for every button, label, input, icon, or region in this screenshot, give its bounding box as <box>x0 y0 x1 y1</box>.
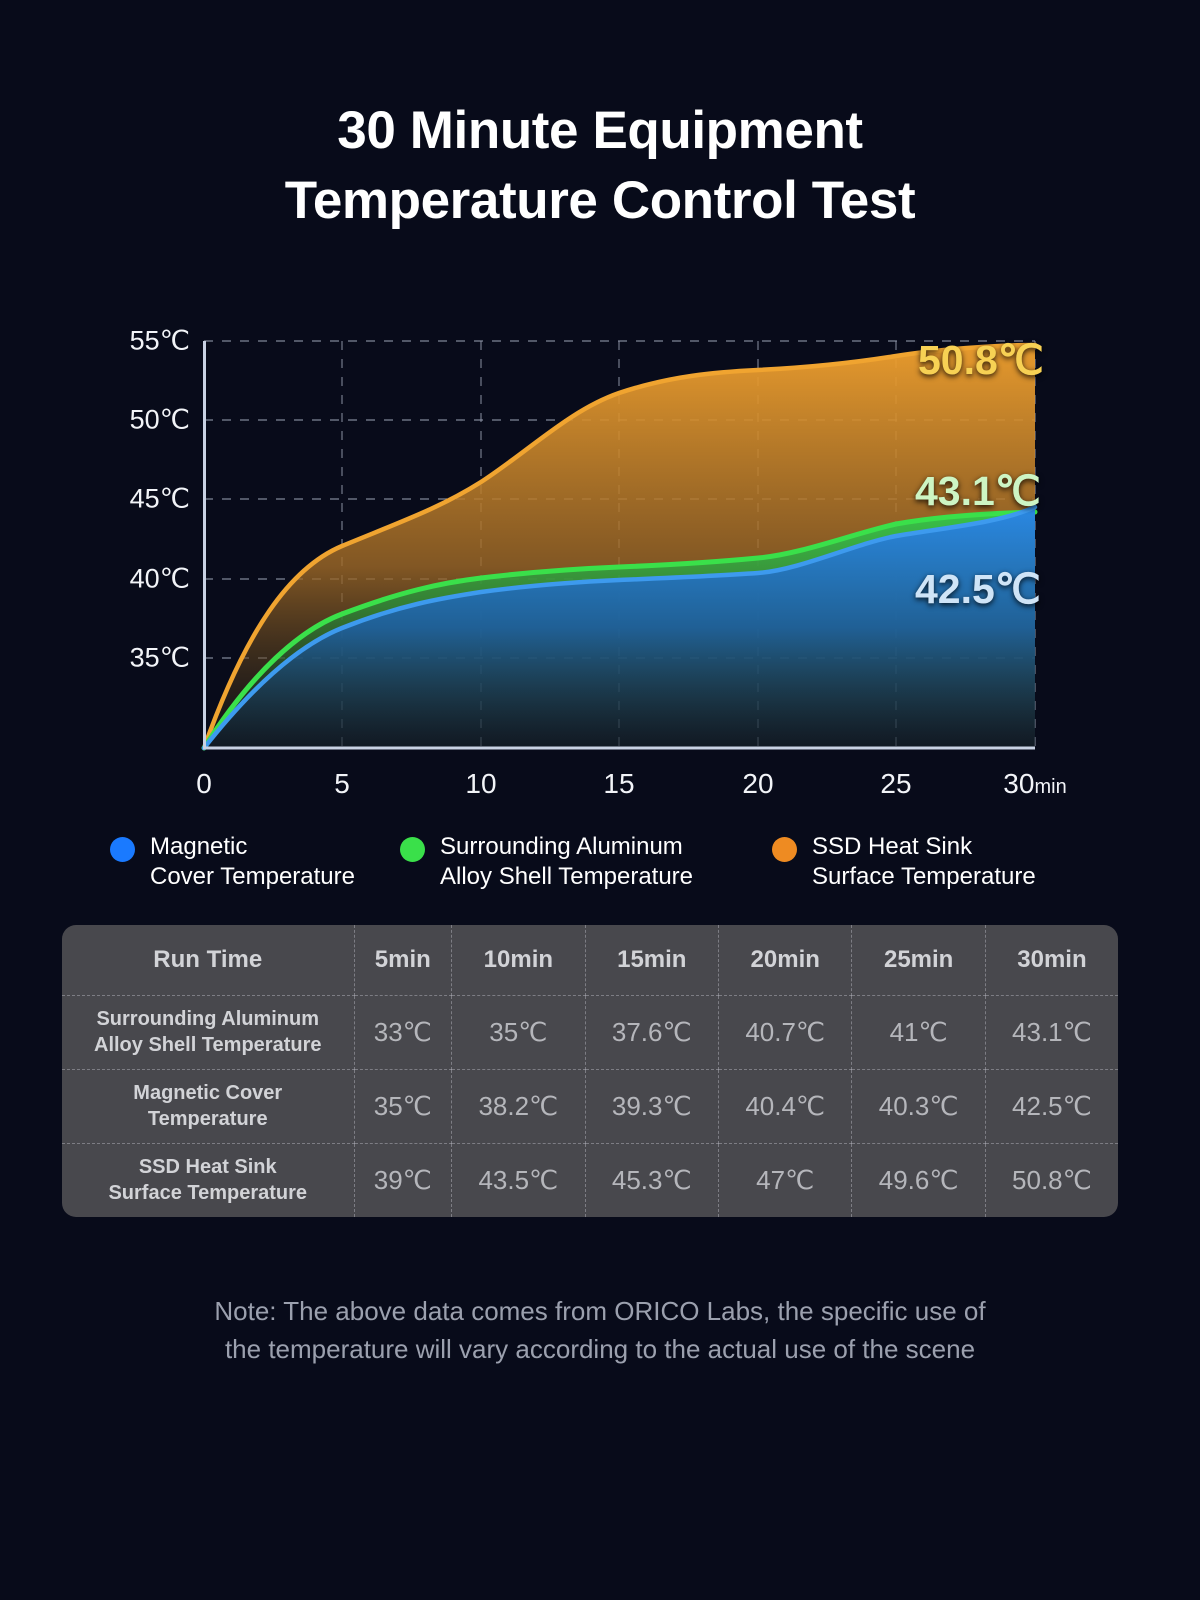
cell-aluminum-30min: 43.1℃ <box>985 995 1118 1069</box>
cell-aluminum-5min: 33℃ <box>354 995 452 1069</box>
x-tick-30-value: 30 <box>1003 768 1034 799</box>
cell-magnetic-15min: 39.3℃ <box>585 1069 718 1143</box>
x-tick-30: 30min <box>1003 768 1066 800</box>
cell-aluminum-20min: 40.7℃ <box>719 995 852 1069</box>
table-header-row: Run Time 5min 10min 15min 20min 25min 30… <box>62 925 1118 995</box>
y-tick-35: 35℃ <box>100 643 190 674</box>
cell-magnetic-20min: 40.4℃ <box>719 1069 852 1143</box>
temperature-data-table: Run Time 5min 10min 15min 20min 25min 30… <box>62 925 1118 1217</box>
callout-aluminum-shell: 43.1℃ <box>915 467 1041 515</box>
table-header-25min: 25min <box>852 925 985 995</box>
page-title-line-2: Temperature Control Test <box>0 166 1200 236</box>
y-tick-40: 40℃ <box>100 564 190 595</box>
x-axis-unit: min <box>1034 776 1066 798</box>
legend-dot-icon-orange <box>772 837 797 862</box>
cell-magnetic-5min: 35℃ <box>354 1069 452 1143</box>
page-title: 30 Minute Equipment Temperature Control … <box>0 96 1200 236</box>
legend-label-ssd-heat-sink-surface-temperature: SSD Heat Sink Surface Temperature <box>812 832 1036 892</box>
row-label-line-2: Alloy Shell Temperature <box>94 1034 321 1056</box>
legend-item-ssd-heat-sink-surface-temperature[interactable]: SSD Heat Sink Surface Temperature <box>772 832 1102 902</box>
row-label-line-2: Surface Temperature <box>108 1182 307 1204</box>
x-tick-10: 10 <box>465 768 496 800</box>
cell-aluminum-15min: 37.6℃ <box>585 995 718 1069</box>
cell-ssd-15min: 45.3℃ <box>585 1143 718 1217</box>
legend-label-magnetic-cover-temperature: Magnetic Cover Temperature <box>150 832 355 892</box>
row-label-line-1: Surrounding Aluminum <box>96 1008 319 1030</box>
row-label-line-1: SSD Heat Sink <box>139 1156 277 1178</box>
cell-ssd-30min: 50.8℃ <box>985 1143 1118 1217</box>
footnote-line-1: Note: The above data comes from ORICO La… <box>100 1292 1100 1330</box>
x-tick-0: 0 <box>196 768 212 800</box>
legend-item-surrounding-aluminum-alloy-shell-temperature[interactable]: Surrounding Aluminum Alloy Shell Tempera… <box>400 832 772 902</box>
row-label-line-1: Magnetic Cover <box>133 1082 282 1104</box>
table-header-30min: 30min <box>985 925 1118 995</box>
table-header-run-time: Run Time <box>62 925 354 995</box>
cell-aluminum-10min: 35℃ <box>452 995 585 1069</box>
temperature-test-infographic: 30 Minute Equipment Temperature Control … <box>0 0 1200 1600</box>
legend-dot-icon-blue <box>110 837 135 862</box>
legend-label-surrounding-aluminum-alloy-shell-temperature: Surrounding Aluminum Alloy Shell Tempera… <box>440 832 693 892</box>
legend-label-line-2: Alloy Shell Temperature <box>440 863 693 890</box>
table-row-label-ssd-heat-sink: SSD Heat Sink Surface Temperature <box>62 1143 354 1217</box>
chart-y-axis-labels: 55℃ 50℃ 45℃ 40℃ 35℃ <box>100 300 190 820</box>
x-tick-25: 25 <box>880 768 911 800</box>
legend-dot-icon-green <box>400 837 425 862</box>
table-row-label-magnetic-cover: Magnetic Cover Temperature <box>62 1069 354 1143</box>
y-tick-50: 50℃ <box>100 405 190 436</box>
cell-magnetic-30min: 42.5℃ <box>985 1069 1118 1143</box>
cell-magnetic-10min: 38.2℃ <box>452 1069 585 1143</box>
legend-label-line-2: Cover Temperature <box>150 863 355 890</box>
table-row: Magnetic Cover Temperature 35℃ 38.2℃ 39.… <box>62 1069 1118 1143</box>
legend-item-magnetic-cover-temperature[interactable]: Magnetic Cover Temperature <box>110 832 400 902</box>
y-tick-45: 45℃ <box>100 484 190 515</box>
table-row-label-aluminum-shell: Surrounding Aluminum Alloy Shell Tempera… <box>62 995 354 1069</box>
callout-magnetic-cover: 42.5℃ <box>915 565 1041 613</box>
x-tick-15: 15 <box>603 768 634 800</box>
table-header-20min: 20min <box>719 925 852 995</box>
cell-aluminum-25min: 41℃ <box>852 995 985 1069</box>
cell-magnetic-25min: 40.3℃ <box>852 1069 985 1143</box>
table-header-15min: 15min <box>585 925 718 995</box>
y-tick-55: 55℃ <box>100 326 190 357</box>
cell-ssd-20min: 47℃ <box>719 1143 852 1217</box>
table-row: SSD Heat Sink Surface Temperature 39℃ 43… <box>62 1143 1118 1217</box>
legend-label-line-1: Surrounding Aluminum <box>440 833 683 860</box>
page-title-line-1: 30 Minute Equipment <box>0 96 1200 166</box>
chart-legend: Magnetic Cover Temperature Surrounding A… <box>110 832 1120 902</box>
legend-label-line-2: Surface Temperature <box>812 863 1036 890</box>
table-header-10min: 10min <box>452 925 585 995</box>
cell-ssd-5min: 39℃ <box>354 1143 452 1217</box>
table-header-5min: 5min <box>354 925 452 995</box>
cell-ssd-10min: 43.5℃ <box>452 1143 585 1217</box>
temperature-chart: 55℃ 50℃ 45℃ 40℃ 35℃ 0 5 10 15 20 25 30mi… <box>0 300 1200 820</box>
table-row: Surrounding Aluminum Alloy Shell Tempera… <box>62 995 1118 1069</box>
x-tick-20: 20 <box>742 768 773 800</box>
callout-ssd-heat-sink: 50.8℃ <box>918 336 1044 384</box>
footnote-line-2: the temperature will vary according to t… <box>100 1330 1100 1368</box>
footnote: Note: The above data comes from ORICO La… <box>100 1292 1100 1368</box>
row-label-line-2: Temperature <box>148 1108 268 1130</box>
cell-ssd-25min: 49.6℃ <box>852 1143 985 1217</box>
legend-label-line-1: Magnetic <box>150 833 247 860</box>
x-tick-5: 5 <box>334 768 350 800</box>
legend-label-line-1: SSD Heat Sink <box>812 833 972 860</box>
